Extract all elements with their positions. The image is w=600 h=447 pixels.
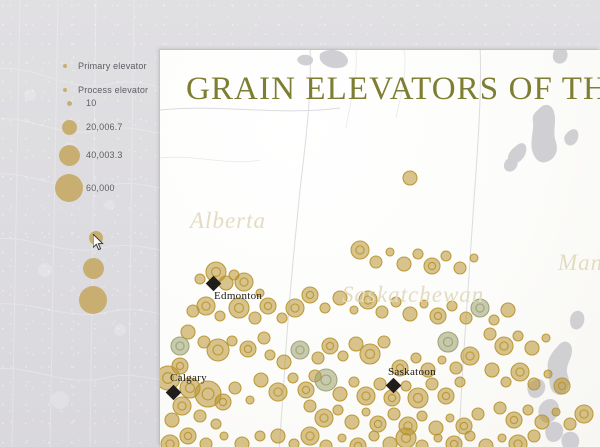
elevator-bubble[interactable] [498, 434, 506, 442]
elevator-bubble[interactable] [269, 383, 287, 401]
elevator-bubble[interactable] [494, 402, 506, 414]
elevator-bubble[interactable] [304, 400, 316, 412]
elevator-bubble[interactable] [411, 353, 421, 363]
elevator-bubble[interactable] [315, 369, 337, 391]
elevator-bubble[interactable] [254, 373, 268, 387]
elevator-bubble[interactable] [165, 413, 179, 427]
elevator-bubble[interactable] [200, 438, 212, 447]
elevator-bubble[interactable] [523, 405, 533, 415]
elevator-bubble[interactable] [240, 341, 256, 357]
elevator-bubble[interactable] [430, 308, 446, 324]
elevator-bubble[interactable] [575, 405, 593, 423]
floating-size-legend[interactable] [0, 0, 170, 447]
elevator-bubble[interactable] [446, 414, 454, 422]
elevator-bubble[interactable] [338, 434, 346, 442]
elevator-bubble[interactable] [489, 315, 499, 325]
elevator-bubble[interactable] [403, 307, 417, 321]
elevator-bubble[interactable] [388, 408, 400, 420]
elevator-bubble[interactable] [260, 298, 276, 314]
elevator-bubble[interactable] [338, 351, 348, 361]
province-label-saskatchewan: Saskatchewan [342, 282, 484, 308]
elevator-bubble[interactable] [333, 387, 347, 401]
elevator-bubble[interactable] [438, 388, 454, 404]
elevator-bubble[interactable] [455, 377, 465, 387]
elevator-bubble[interactable] [511, 363, 529, 381]
elevator-bubble[interactable] [171, 337, 189, 355]
elevator-bubble[interactable] [485, 363, 499, 377]
elevator-bubble[interactable] [195, 274, 205, 284]
elevator-bubble[interactable] [301, 427, 319, 445]
elevator-bubble[interactable] [173, 397, 191, 415]
elevator-bubble[interactable] [258, 332, 270, 344]
elevator-bubble[interactable] [528, 378, 540, 390]
elevator-bubble[interactable] [479, 439, 493, 447]
elevator-bubble[interactable] [302, 287, 318, 303]
elevator-bubble[interactable] [535, 415, 549, 429]
floating-size-circle-large[interactable] [79, 286, 107, 314]
elevator-bubble[interactable] [271, 429, 285, 443]
city-label-calgary: Calgary [170, 372, 207, 384]
elevator-bubble[interactable] [312, 352, 324, 364]
map-canvas[interactable]: GRAIN ELEVATORS OF THE CANADIAN PRAIRIES… [160, 50, 600, 447]
elevator-bubble[interactable] [446, 436, 462, 447]
elevator-bubble[interactable] [397, 257, 411, 271]
elevator-bubble[interactable] [454, 262, 466, 274]
elevator-bubble[interactable] [513, 331, 523, 341]
elevator-bubble[interactable] [426, 378, 438, 390]
elevator-bubble[interactable] [484, 328, 496, 340]
elevator-bubble[interactable] [207, 339, 229, 361]
elevator-bubble[interactable] [386, 248, 394, 256]
elevator-bubble[interactable] [370, 416, 386, 432]
elevator-bubble[interactable] [564, 418, 576, 430]
province-label-manitoba: Manitoba [558, 250, 600, 276]
province-label-alberta: Alberta [190, 208, 266, 234]
elevator-bubble[interactable] [288, 373, 298, 383]
elevator-bubble[interactable] [362, 408, 370, 416]
screenshot-root: Primary elevator Process elevator 10 20,… [0, 0, 600, 447]
elevator-bubble[interactable] [229, 382, 241, 394]
elevator-bubble[interactable] [472, 408, 484, 420]
elevator-bubble[interactable] [315, 409, 333, 427]
elevator-bubble[interactable] [286, 299, 304, 317]
elevator-bubble[interactable] [370, 256, 382, 268]
elevator-bubble[interactable] [408, 388, 428, 408]
elevator-bubble[interactable] [501, 303, 515, 317]
elevator-bubble[interactable] [180, 428, 196, 444]
elevator-bubble[interactable] [320, 440, 332, 447]
elevator-bubble[interactable] [265, 350, 275, 360]
city-label-edmonton: Edmonton [214, 290, 262, 302]
elevator-bubble[interactable] [320, 303, 330, 313]
elevator-bubble[interactable] [369, 431, 379, 441]
elevator-bubble[interactable] [289, 439, 299, 447]
elevator-bubble[interactable] [465, 431, 475, 441]
elevator-bubble[interactable] [542, 334, 550, 342]
elevator-bubble[interactable] [215, 311, 225, 321]
mouse-pointer-icon [93, 234, 105, 252]
elevator-bubble[interactable] [417, 411, 427, 421]
elevator-bubble[interactable] [277, 355, 291, 369]
elevator-bubble[interactable] [403, 171, 417, 185]
elevator-bubble[interactable] [434, 434, 442, 442]
elevator-bubble[interactable] [349, 377, 359, 387]
elevator-bubble[interactable] [438, 356, 446, 364]
elevator-bubble[interactable] [211, 419, 221, 429]
elevator-bubble[interactable] [429, 421, 443, 435]
elevator-bubble[interactable] [197, 297, 215, 315]
elevator-bubble[interactable] [461, 347, 479, 365]
elevator-bubble[interactable] [525, 341, 539, 355]
elevator-bubble[interactable] [350, 438, 366, 447]
elevator-bubble[interactable] [181, 325, 195, 339]
elevator-bubble[interactable] [460, 312, 472, 324]
elevator-bubble[interactable] [235, 273, 253, 291]
elevator-bubble[interactable] [495, 337, 513, 355]
elevator-bubble[interactable] [374, 378, 386, 390]
elevator-bubble[interactable] [378, 336, 390, 348]
elevator-bubble[interactable] [396, 428, 416, 447]
elevator-bubble[interactable] [544, 370, 552, 378]
elevator-bubble[interactable] [416, 440, 428, 447]
elevator-bubble[interactable] [194, 410, 206, 422]
elevator-bubble[interactable] [554, 378, 570, 394]
elevator-bubble[interactable] [441, 251, 451, 261]
elevator-bubble[interactable] [215, 394, 231, 410]
elevator-bubble[interactable] [351, 241, 369, 259]
elevator-bubble[interactable] [246, 396, 254, 404]
elevator-bubble[interactable] [322, 338, 338, 354]
elevator-bubble[interactable] [161, 435, 179, 447]
floating-size-circle-medium[interactable] [83, 258, 104, 279]
elevator-bubble[interactable] [298, 382, 314, 398]
elevator-bubble[interactable] [450, 362, 462, 374]
elevator-bubble[interactable] [345, 415, 359, 429]
elevator-bubble[interactable] [227, 336, 237, 346]
elevator-bubble[interactable] [360, 344, 380, 364]
elevator-bubble[interactable] [509, 435, 527, 447]
elevator-bubble[interactable] [438, 332, 458, 352]
elevator-bubble[interactable] [249, 312, 261, 324]
elevator-bubble[interactable] [220, 432, 228, 440]
elevator-bubble[interactable] [424, 258, 440, 274]
elevator-bubble[interactable] [401, 381, 411, 391]
elevator-bubble[interactable] [277, 313, 287, 323]
elevator-bubble[interactable] [528, 430, 540, 442]
elevator-bubble[interactable] [470, 254, 478, 262]
elevator-bubble[interactable] [413, 249, 423, 259]
city-label-saskatoon: Saskatoon [388, 366, 436, 378]
map-title: GRAIN ELEVATORS OF THE CANADIAN PRAIRIES [186, 68, 600, 110]
elevator-bubble[interactable] [291, 341, 309, 359]
elevator-bubble[interactable] [235, 437, 249, 447]
elevator-bubble[interactable] [333, 405, 343, 415]
elevator-bubble[interactable] [552, 408, 560, 416]
elevator-bubble[interactable] [357, 387, 375, 405]
elevator-bubble[interactable] [383, 437, 397, 447]
elevator-bubble[interactable] [506, 412, 522, 428]
elevator-bubble[interactable] [501, 377, 511, 387]
map-panel[interactable]: GRAIN ELEVATORS OF THE CANADIAN PRAIRIES… [160, 50, 600, 447]
elevator-bubble[interactable] [255, 431, 265, 441]
